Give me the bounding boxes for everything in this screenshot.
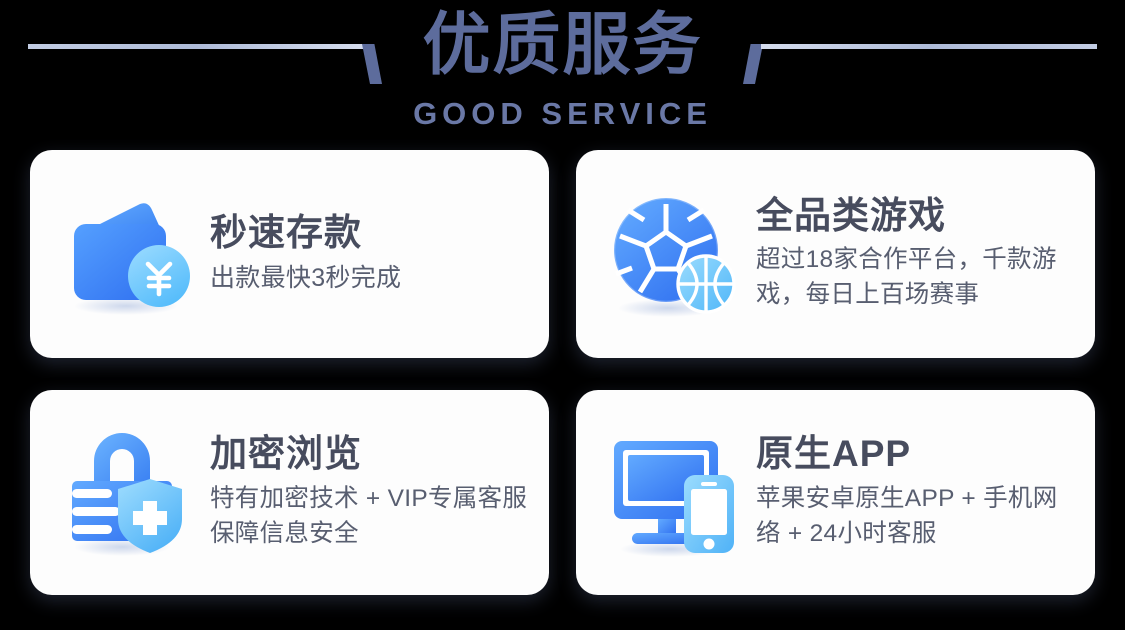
feature-card-games[interactable]: 全品类游戏 超过18家合作平台，千款游戏，每日上百场赛事 [576,150,1095,358]
feature-text-deposit: 秒速存款 出款最快3秒完成 [210,212,531,296]
lock-shield-icon [58,423,198,563]
feature-title: 原生APP [756,433,1077,476]
feature-subtitle: 特有加密技术 + VIP专属客服保障信息安全 [210,482,531,552]
page-subtitle: GOOD SERVICE [0,96,1125,132]
soccer-basketball-icon [604,184,744,324]
feature-subtitle: 苹果安卓原生APP + 手机网络 + 24小时客服 [756,482,1077,552]
monitor-phone-icon [604,423,744,563]
feature-card-encryption[interactable]: 加密浏览 特有加密技术 + VIP专属客服保障信息安全 [30,390,549,595]
wallet-coin-icon [58,184,198,324]
feature-text-games: 全品类游戏 超过18家合作平台，千款游戏，每日上百场赛事 [756,195,1077,313]
feature-title: 全品类游戏 [756,195,1077,238]
feature-title: 秒速存款 [210,212,531,255]
page-header: 优质服务 GOOD SERVICE [0,0,1125,142]
feature-subtitle: 出款最快3秒完成 [210,261,531,297]
feature-text-native-app: 原生APP 苹果安卓原生APP + 手机网络 + 24小时客服 [756,433,1077,551]
page-title: 优质服务 [0,4,1125,87]
feature-card-grid: 秒速存款 出款最快3秒完成 [30,150,1095,595]
feature-subtitle: 超过18家合作平台，千款游戏，每日上百场赛事 [756,243,1077,313]
feature-card-native-app[interactable]: 原生APP 苹果安卓原生APP + 手机网络 + 24小时客服 [576,390,1095,595]
feature-card-deposit[interactable]: 秒速存款 出款最快3秒完成 [30,150,549,358]
feature-title: 加密浏览 [210,433,531,476]
feature-text-encryption: 加密浏览 特有加密技术 + VIP专属客服保障信息安全 [210,433,531,551]
